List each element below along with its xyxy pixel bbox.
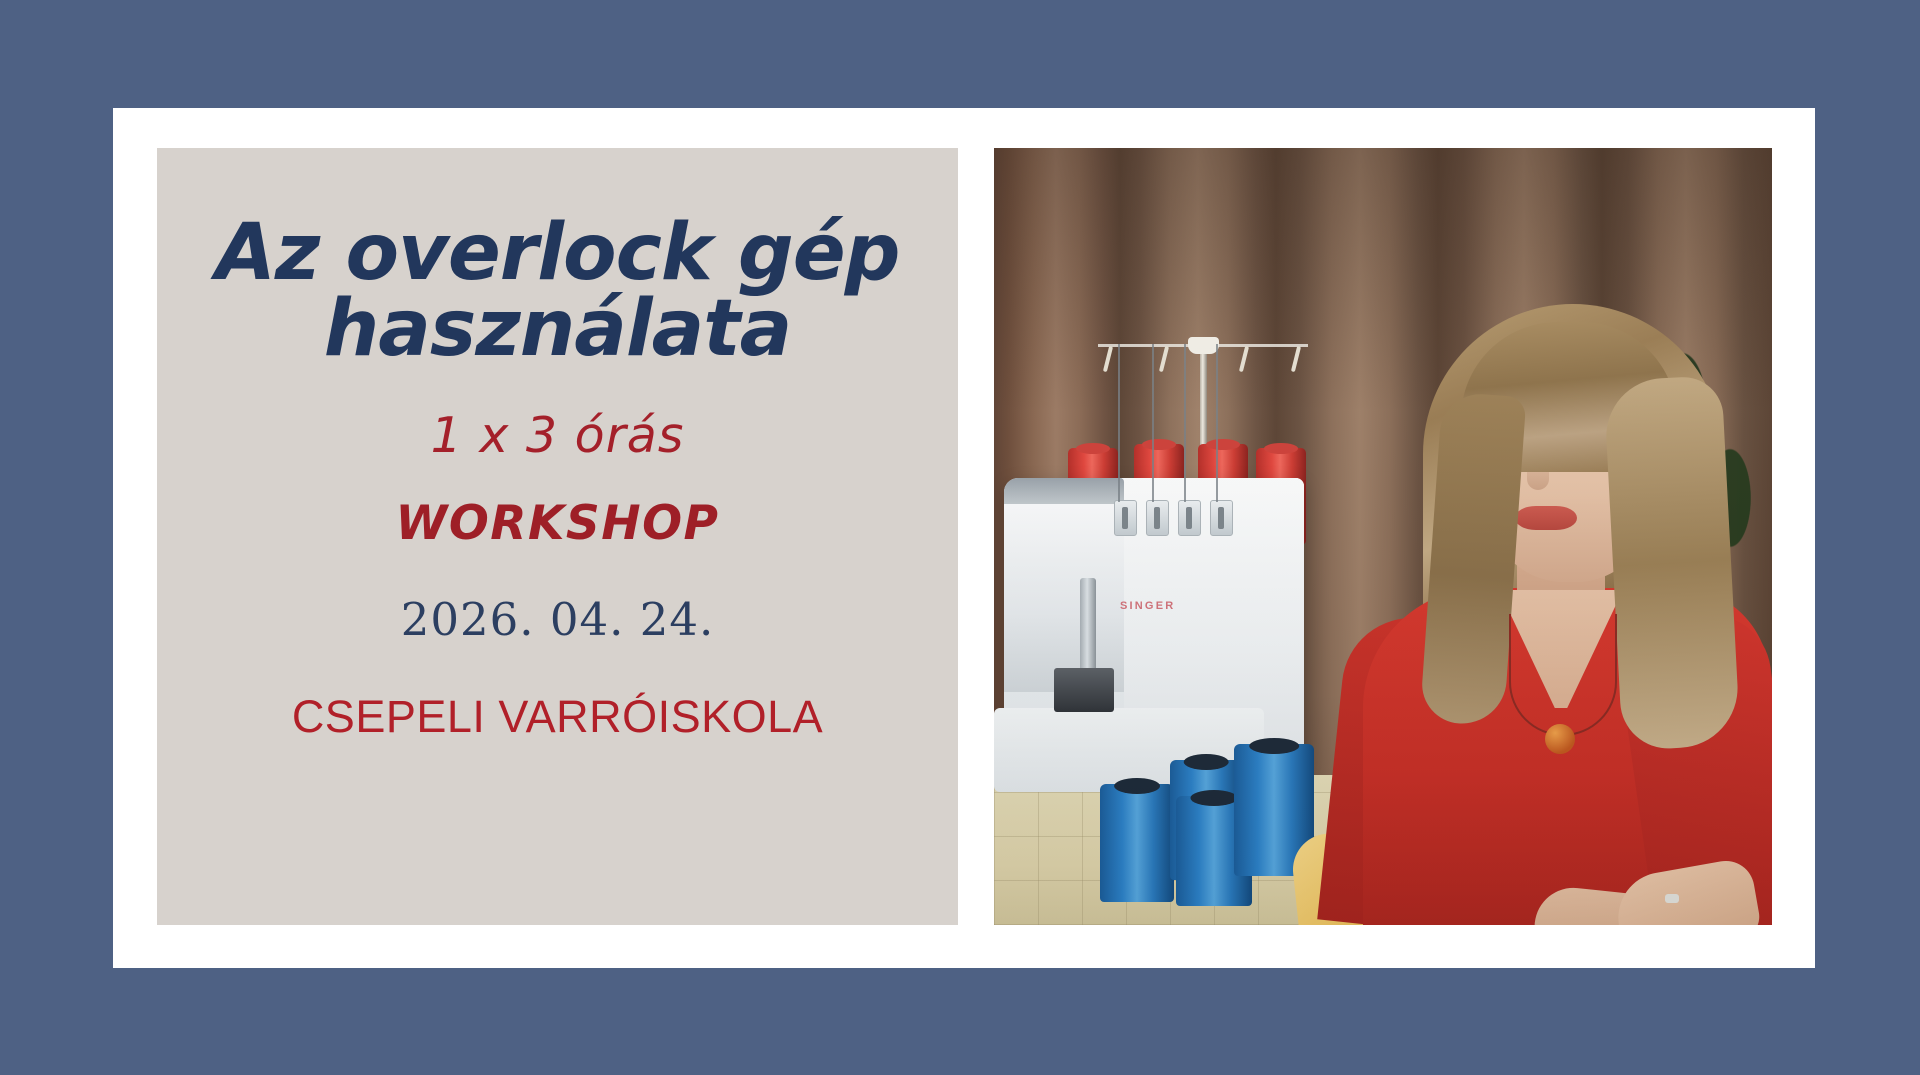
event-date: 2026. 04. 24. xyxy=(401,547,715,642)
machine-top-cover xyxy=(1004,478,1124,504)
duration-label: 1 x 3 órás xyxy=(431,367,685,460)
photo-scene: SINGER xyxy=(994,148,1772,925)
thread-strand-2 xyxy=(1152,344,1154,502)
thread-guide-cap xyxy=(1188,337,1219,354)
blue-thread-cone-1 xyxy=(1100,784,1174,902)
person-figure xyxy=(1349,218,1772,925)
workshop-label: WORKSHOP xyxy=(396,460,720,547)
text-panel: Az overlock gép használata 1 x 3 órás WO… xyxy=(157,148,958,925)
thread-strand-4 xyxy=(1216,344,1218,502)
needle-plate xyxy=(1054,668,1114,712)
necklace-cord xyxy=(1509,614,1617,736)
necklace-pendant xyxy=(1545,724,1575,754)
singer-brand-logo: SINGER xyxy=(1120,600,1175,612)
finger-ring xyxy=(1665,894,1679,903)
school-name: CSEPELI VARRÓISKOLA xyxy=(292,642,823,739)
page-title: Az overlock gép használata xyxy=(178,148,938,367)
tension-dial-1 xyxy=(1114,500,1137,536)
hair-right-side xyxy=(1603,375,1740,751)
workshop-photo: SINGER xyxy=(994,148,1772,925)
tension-dial-2 xyxy=(1146,500,1169,536)
poster-canvas: Az overlock gép használata 1 x 3 órás WO… xyxy=(0,0,1920,1075)
tension-dial-4 xyxy=(1210,500,1233,536)
lips xyxy=(1515,506,1577,530)
thread-strand-3 xyxy=(1184,344,1186,502)
tension-dial-3 xyxy=(1178,500,1201,536)
machine-side-panel xyxy=(1004,504,1124,692)
thread-strand-1 xyxy=(1118,344,1120,502)
